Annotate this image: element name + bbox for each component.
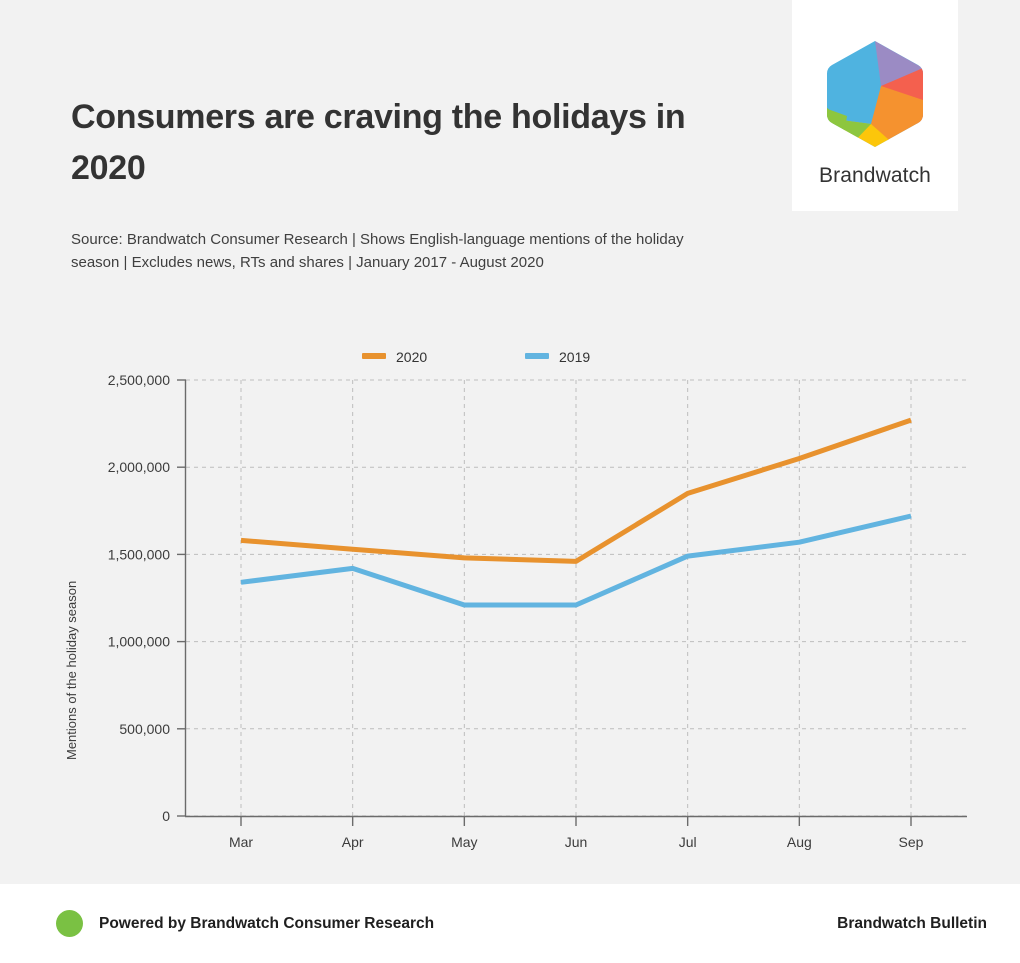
brandwatch-dot-icon — [56, 910, 83, 937]
legend-swatch-2020 — [362, 353, 386, 359]
brandwatch-logo-card: Brandwatch — [792, 0, 958, 211]
y-tick-label: 2,000,000 — [108, 459, 170, 475]
y-axis-tick-labels: 0500,0001,000,0001,500,0002,000,0002,500… — [108, 372, 171, 824]
x-tick-label: May — [451, 834, 477, 850]
vertical-gridlines — [241, 380, 911, 816]
legend-label-2019: 2019 — [559, 349, 590, 365]
y-tick-label: 1,500,000 — [108, 546, 170, 562]
chart-legend: 2020 2019 — [362, 349, 590, 365]
y-tick-label: 0 — [162, 808, 170, 824]
footer-left-group: Powered by Brandwatch Consumer Research — [56, 910, 434, 937]
y-axis-title: Mentions of the holiday season — [64, 581, 79, 760]
footer-bulletin-label: Brandwatch Bulletin — [837, 915, 987, 933]
line-chart: 2020 2019 0500,0001,000,0001,500,0002,00… — [0, 330, 1020, 875]
x-tick-label: Jun — [565, 834, 588, 850]
y-tick-label: 2,500,000 — [108, 372, 170, 388]
brandwatch-wordmark: Brandwatch — [819, 164, 931, 188]
x-tick-label: Jul — [679, 834, 697, 850]
brandwatch-hexagon-logo-icon — [819, 38, 931, 150]
horizontal-gridlines — [186, 380, 968, 816]
source-note: Source: Brandwatch Consumer Research | S… — [71, 228, 711, 274]
x-tick-label: Apr — [342, 834, 364, 850]
x-tick-label: Mar — [229, 834, 253, 850]
y-tick-label: 1,000,000 — [108, 634, 170, 650]
x-axis-ticks — [241, 817, 911, 826]
page-title: Consumers are craving the holidays in 20… — [71, 92, 711, 194]
legend-swatch-2019 — [525, 353, 549, 359]
y-tick-label: 500,000 — [119, 721, 170, 737]
legend-label-2020: 2020 — [396, 349, 427, 365]
footer-bar: Powered by Brandwatch Consumer Research … — [0, 884, 1020, 963]
y-axis-ticks — [177, 380, 186, 816]
x-tick-label: Aug — [787, 834, 812, 850]
x-axis-tick-labels: MarAprMayJunJulAugSep — [229, 834, 924, 850]
x-tick-label: Sep — [899, 834, 924, 850]
footer-powered-by-label: Powered by Brandwatch Consumer Research — [99, 915, 434, 933]
